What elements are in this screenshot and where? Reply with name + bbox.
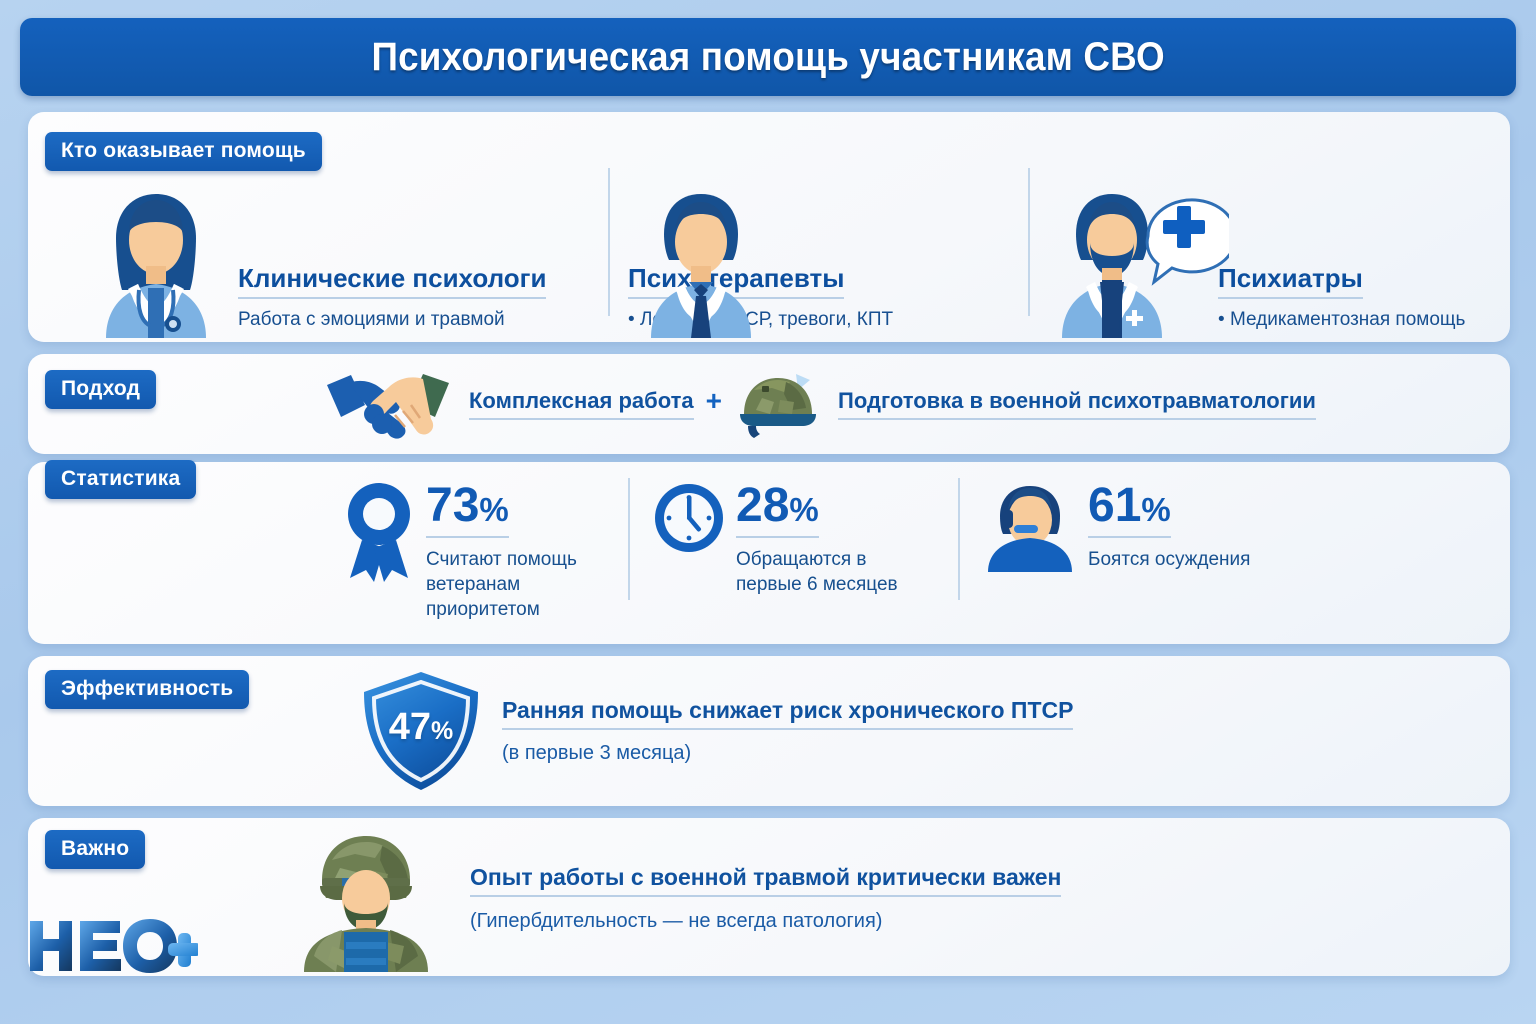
who-item-desc: Работа с эмоциями и травмой	[238, 308, 546, 332]
stat-item-first-six-months: 28% Обращаются в первые 6 месяцев	[628, 478, 958, 644]
military-helmet-icon	[734, 370, 824, 438]
who-item-title: Клинические психологи	[238, 264, 546, 298]
effectiveness-text: Ранняя помощь снижает риск хронического …	[502, 697, 1073, 765]
who-items-row: Клинические психологи Работа с эмоциями …	[28, 160, 1510, 338]
shield-value: 47%	[358, 706, 484, 749]
who-item-psychotherapists: Психотерапевты • Лечение ПТСР, тревоги, …	[608, 160, 1028, 338]
approach-left-text: Комплексная работа	[469, 388, 694, 420]
column-divider	[628, 478, 630, 600]
column-divider	[608, 168, 610, 316]
approach-row: Комплексная работа + Подготовка в военно…	[323, 362, 1316, 446]
section-badge-approach: Подход	[45, 370, 156, 409]
approach-plus-sign: +	[706, 385, 722, 423]
bearded-psychiatrist-icon	[1044, 176, 1229, 338]
section-badge-effectiveness: Эффективность	[45, 670, 249, 709]
stat-text: 61% Боятся осуждения	[1088, 478, 1250, 572]
stat-unit: %	[789, 491, 818, 528]
section-approach: Подход Комплексная работа +	[28, 354, 1510, 454]
important-subtitle: (Гипербдительность — не всегда патология…	[470, 910, 1061, 933]
statistics-row: 73% Считают помощь ветеранам приоритетом	[28, 478, 1510, 644]
shield-unit: %	[431, 717, 453, 745]
page-header: Психологическая помощь участникам СВО	[20, 18, 1516, 96]
stat-number: 61	[1088, 479, 1141, 532]
stat-number: 73	[426, 479, 479, 532]
stat-value: 73%	[426, 482, 509, 538]
section-important: Важно	[28, 818, 1510, 976]
shield-icon: 47%	[358, 670, 484, 792]
page-title: Психологическая помощь участникам СВО	[371, 35, 1164, 80]
important-title: Опыт работы с военной травмой критически…	[470, 864, 1061, 897]
who-item-desc-text: Медикаментозная помощь	[1230, 309, 1466, 330]
stat-number: 28	[736, 479, 789, 532]
section-statistics: Статистика 73% Считают помощь ветеранам …	[28, 462, 1510, 644]
stat-item-priority: 73% Считают помощь ветеранам приоритетом	[28, 478, 628, 644]
clock-icon	[650, 478, 728, 558]
who-item-clinical-psychologists: Клинические психологи Работа с эмоциями …	[28, 160, 608, 338]
section-who-provides-help: Кто оказывает помощь	[28, 112, 1510, 342]
soldier-icon	[286, 824, 446, 972]
stat-item-fear-judgement: 61% Боятся осуждения	[958, 478, 1510, 644]
who-item-title: Психиатры	[1218, 264, 1363, 298]
stat-label: Боятся осуждения	[1088, 547, 1250, 572]
stat-text: 28% Обращаются в первые 6 месяцев	[736, 478, 936, 597]
section-effectiveness: Эффективность 47% Ранняя помощь снижает …	[28, 656, 1510, 806]
person-headset-icon	[980, 478, 1080, 572]
award-ribbon-icon	[340, 478, 418, 584]
who-item-text: Клинические психологи Работа с эмоциями …	[238, 264, 546, 338]
stat-unit: %	[1141, 491, 1170, 528]
important-text: Опыт работы с военной травмой критически…	[470, 864, 1061, 933]
stat-label: Обращаются в первые 6 месяцев	[736, 547, 936, 597]
brand-logo	[28, 915, 198, 977]
male-therapist-icon	[626, 178, 776, 338]
section-badge-important: Важно	[45, 830, 145, 869]
female-psychologist-icon	[76, 178, 236, 338]
handshake-icon	[323, 369, 453, 439]
effectiveness-subtitle: (в первые 3 месяца)	[502, 742, 1073, 765]
column-divider	[958, 478, 960, 600]
who-item-desc: • Медикаментозная помощь	[1218, 308, 1465, 332]
stat-label: Считают помощь ветеранам приоритетом	[426, 547, 601, 622]
stat-value: 61%	[1088, 482, 1171, 538]
important-row: Опыт работы с военной травмой критически…	[286, 824, 1061, 972]
column-divider	[1028, 168, 1030, 316]
effectiveness-row: 47% Ранняя помощь снижает риск хроническ…	[358, 670, 1073, 792]
who-item-psychiatrists: Психиатры • Медикаментозная помощь	[1028, 160, 1510, 338]
stat-value: 28%	[736, 482, 819, 538]
shield-number: 47	[389, 706, 431, 748]
approach-right-text: Подготовка в военной психотравматологии	[838, 388, 1316, 420]
stat-unit: %	[479, 491, 508, 528]
stat-text: 73% Считают помощь ветеранам приоритетом	[426, 478, 601, 622]
effectiveness-title: Ранняя помощь снижает риск хронического …	[502, 697, 1073, 730]
